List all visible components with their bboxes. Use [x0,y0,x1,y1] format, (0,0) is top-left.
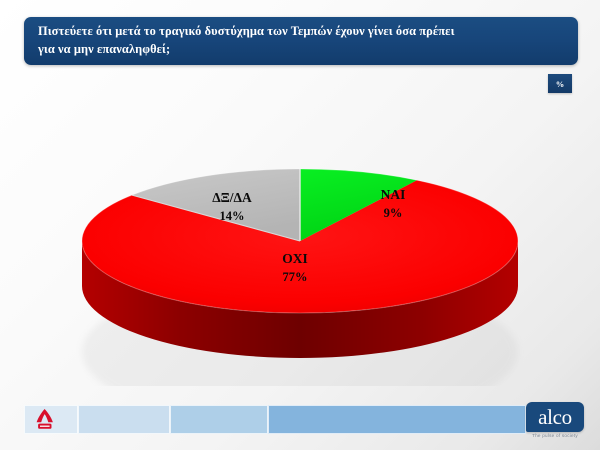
page-title: Πιστεύετε ότι μετά το τραγικό δυστύχημα … [38,23,564,58]
slice-label-dk-name: ΔΞ/ΔΑ [212,190,252,205]
slice-label-no-name: ΟΧΙ [282,251,308,266]
alco-tagline: The pulse of society [524,433,586,438]
alco-logo: alco [526,402,584,432]
question-title-bar: Πιστεύετε ότι μετά το τραγικό δυστύχημα … [24,17,578,65]
alco-wordmark: alco [538,407,572,428]
percent-unit-badge: % [548,74,572,93]
slice-label-dk-value: 14% [220,209,245,223]
slice-label-yes-name: ΝΑΙ [381,187,406,202]
pie-chart-svg: ΝΑΙ 9% ΟΧΙ 77% ΔΞ/ΔΑ 14% [60,96,540,386]
alpha-a-glyph [37,409,53,422]
alpha-news-wordmark [40,426,50,428]
footer-bar-3 [170,405,268,434]
footer [0,400,600,450]
slide-canvas: Πιστεύετε ότι μετά το τραγικό δυστύχημα … [0,0,600,450]
footer-bar-2 [78,405,170,434]
slice-label-yes-value: 9% [384,206,403,220]
footer-bar-4 [268,405,526,434]
pie-chart: ΝΑΙ 9% ΟΧΙ 77% ΔΞ/ΔΑ 14% [60,96,540,386]
slice-label-no-value: 77% [283,270,308,284]
alpha-news-logo-icon [32,408,58,431]
